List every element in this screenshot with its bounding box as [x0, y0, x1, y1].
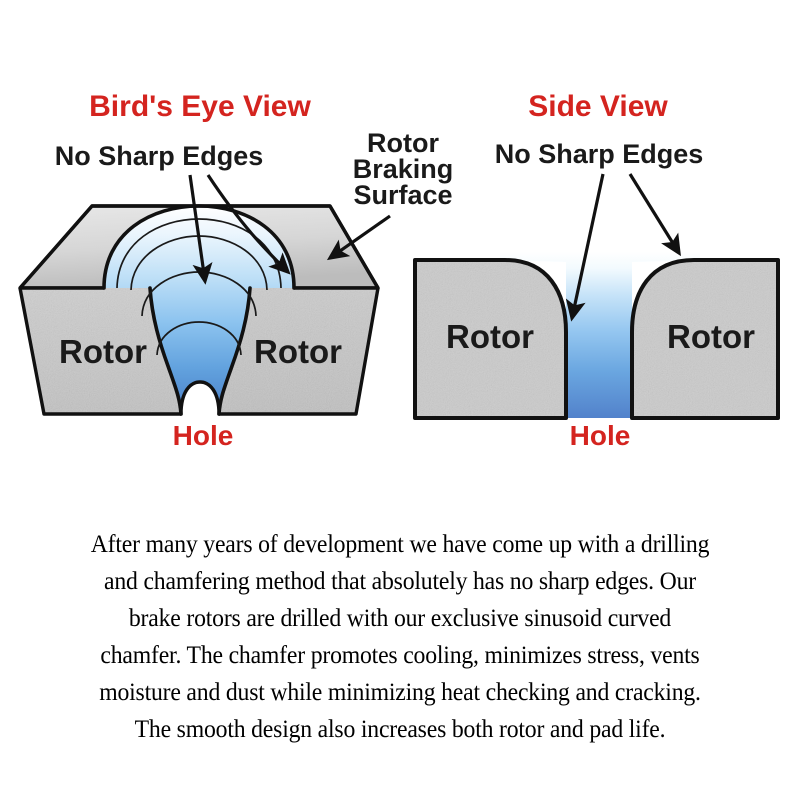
left-rotor-label-left: Rotor: [59, 333, 147, 370]
left-no-sharp-edges-label: No Sharp Edges: [55, 141, 264, 171]
right-diagram-group: Rotor Rotor Side View No Sharp Edges Hol…: [415, 90, 778, 451]
left-hole-label: Hole: [173, 420, 234, 451]
right-view-title: Side View: [528, 90, 668, 123]
left-rotor-label-right: Rotor: [254, 333, 342, 370]
illustration-page: Rotor Rotor Bird's Eye View No Sharp Edg…: [0, 0, 800, 800]
paragraph-line: The smooth design also increases both ro…: [28, 710, 772, 747]
right-no-sharp-edges-arrow-right: [630, 174, 679, 253]
right-rotor-label-left: Rotor: [446, 318, 534, 355]
braking-surface-label-line3: Surface: [353, 180, 452, 210]
paragraph-line: After many years of development we have …: [28, 525, 772, 562]
right-no-sharp-edges-label: No Sharp Edges: [495, 139, 704, 169]
left-view-title: Bird's Eye View: [89, 90, 311, 123]
right-rotor-label-right: Rotor: [667, 318, 755, 355]
left-diagram-group: Rotor Rotor Bird's Eye View No Sharp Edg…: [20, 90, 453, 451]
right-hole-label: Hole: [570, 420, 631, 451]
paragraph-line: chamfer. The chamfer promotes cooling, m…: [28, 636, 772, 673]
description-paragraph: After many years of development we have …: [0, 525, 800, 747]
paragraph-line: moisture and dust while minimizing heat …: [28, 673, 772, 710]
paragraph-line: and chamfering method that absolutely ha…: [28, 562, 772, 599]
paragraph-line: brake rotors are drilled with our exclus…: [28, 599, 772, 636]
